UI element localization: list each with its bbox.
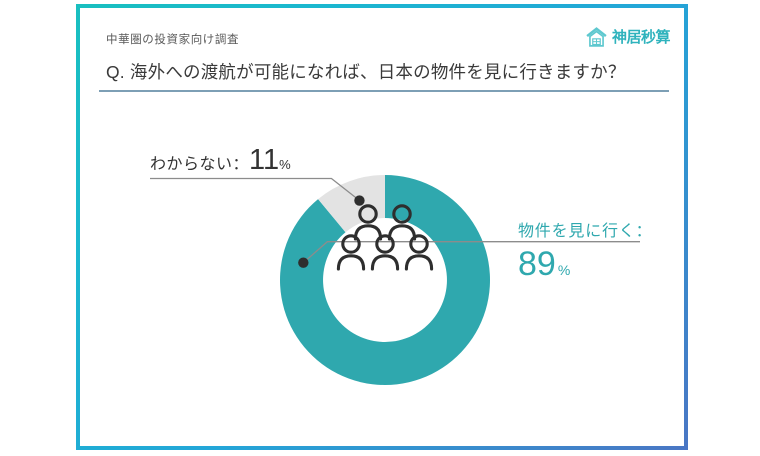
callout-unknown-label: わからない： [150, 156, 249, 173]
callout-go-unit: % [558, 262, 570, 278]
survey-subtitle: 中華圏の投資家向け調査 [106, 31, 239, 47]
callout-unknown: わからない：11% [150, 146, 291, 175]
leader-dot-go [298, 258, 308, 268]
callout-go-value: 89 [518, 245, 556, 283]
callout-go: 物件を見に行く： 89% [518, 224, 652, 281]
donut-chart-area: わからない：11% 物件を見に行く： 89% [80, 104, 684, 444]
house-icon [584, 24, 609, 49]
donut-slice-go [280, 175, 490, 385]
callout-unknown-unit: % [279, 157, 291, 172]
leader-dot-unknown [354, 195, 364, 205]
callout-unknown-value: 11 [249, 144, 279, 176]
callout-go-label: 物件を見に行く： [518, 224, 652, 240]
slide-content: 中華圏の投資家向け調査 神居秒算 Q. 海外への渡航が可能になれば、日本の物件を… [80, 8, 684, 446]
slide-canvas: 中華圏の投資家向け調査 神居秒算 Q. 海外への渡航が可能になれば、日本の物件を… [0, 0, 760, 456]
brand-name: 神居秒算 [612, 26, 670, 47]
question-title: Q. 海外への渡航が可能になれば、日本の物件を見に行きますか？ [106, 59, 626, 84]
brand-logo: 神居秒算 [584, 24, 670, 49]
header-divider [99, 90, 669, 92]
